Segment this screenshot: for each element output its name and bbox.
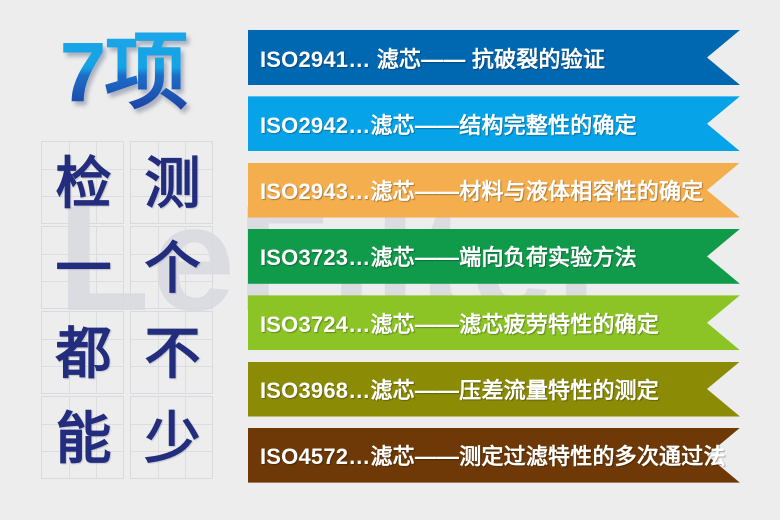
slogan-grid-cell: 测 [130,141,213,224]
slogan-character: 个 [131,227,214,310]
slogan-character: 都 [42,312,125,395]
standard-ribbon[interactable]: ISO2943…滤芯——材料与液体相容性的确定 [248,163,740,218]
slogan-character: 能 [42,397,125,480]
standard-ribbon[interactable]: ISO3968…滤芯——压差流量特性的测定 [248,362,740,417]
slogan-grid-cell: 个 [130,226,213,309]
slogan-character: 检 [42,142,125,225]
standard-ribbon[interactable]: ISO4572…滤芯——测定过滤特性的多次通过法 [248,428,740,483]
slogan-character: 少 [131,397,214,480]
slogan-character: 不 [131,312,214,395]
page-title: 7项 [28,18,218,128]
standards-ribbon-list: ISO2941… 滤芯—— 抗破裂的验证ISO2942…滤芯——结构完整性的确定… [248,0,748,520]
ribbon-label: ISO4572…滤芯——测定过滤特性的多次通过法 [248,439,726,471]
standard-ribbon[interactable]: ISO2941… 滤芯—— 抗破裂的验证 [248,30,740,85]
standard-ribbon[interactable]: ISO3724…滤芯——滤芯疲劳特性的确定 [248,295,740,350]
slogan-character-grid: 检测一个都不能少 [41,141,213,479]
slogan-grid-cell: 检 [41,141,124,224]
slogan-character: 测 [131,142,214,225]
slogan-grid-cell: 一 [41,226,124,309]
slogan-grid-cell: 不 [130,311,213,394]
slogan-grid-cell: 少 [130,396,213,479]
poster-canvas: LeFilter 7项 检测一个都不能少 ISO2941… 滤芯—— 抗破裂的验… [0,0,780,520]
slogan-character: 一 [42,227,125,310]
slogan-grid-cell: 都 [41,311,124,394]
slogan-grid-cell: 能 [41,396,124,479]
ribbon-label: ISO3723…滤芯——端向负荷实验方法 [248,240,637,272]
ribbon-label: ISO3968…滤芯——压差流量特性的测定 [248,373,659,405]
ribbon-label: ISO3724…滤芯——滤芯疲劳特性的确定 [248,307,659,339]
standard-ribbon[interactable]: ISO2942…滤芯——结构完整性的确定 [248,96,740,151]
ribbon-label: ISO2943…滤芯——材料与液体相容性的确定 [248,174,703,206]
left-column: 7项 检测一个都不能少 [0,0,240,520]
standard-ribbon[interactable]: ISO3723…滤芯——端向负荷实验方法 [248,229,740,284]
ribbon-label: ISO2941… 滤芯—— 抗破裂的验证 [248,42,605,74]
ribbon-label: ISO2942…滤芯——结构完整性的确定 [248,108,637,140]
